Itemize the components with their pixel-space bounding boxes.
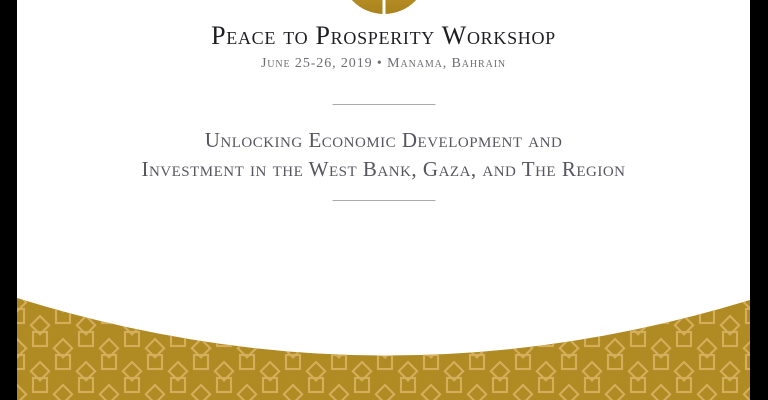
- theme-block: Unlocking Economic Development and Inves…: [17, 126, 750, 184]
- gold-pattern-band: [17, 270, 750, 400]
- event-date-location: June 25-26, 2019 • Manama, Bahrain: [17, 55, 750, 72]
- theme-line-2: Investment in the West Bank, Gaza, and T…: [17, 155, 750, 184]
- divider-rule-top: [332, 104, 435, 105]
- theme-line-1: Unlocking Economic Development and: [17, 126, 750, 155]
- gold-emblem-icon: [336, 0, 432, 18]
- header-block: Peace to Prosperity Workshop June 25-26,…: [17, 21, 750, 72]
- page-title: Peace to Prosperity Workshop: [17, 21, 750, 51]
- divider-rule-bottom: [332, 200, 435, 201]
- slide-canvas: Peace to Prosperity Workshop June 25-26,…: [17, 0, 750, 400]
- slide-frame: Peace to Prosperity Workshop June 25-26,…: [0, 0, 768, 400]
